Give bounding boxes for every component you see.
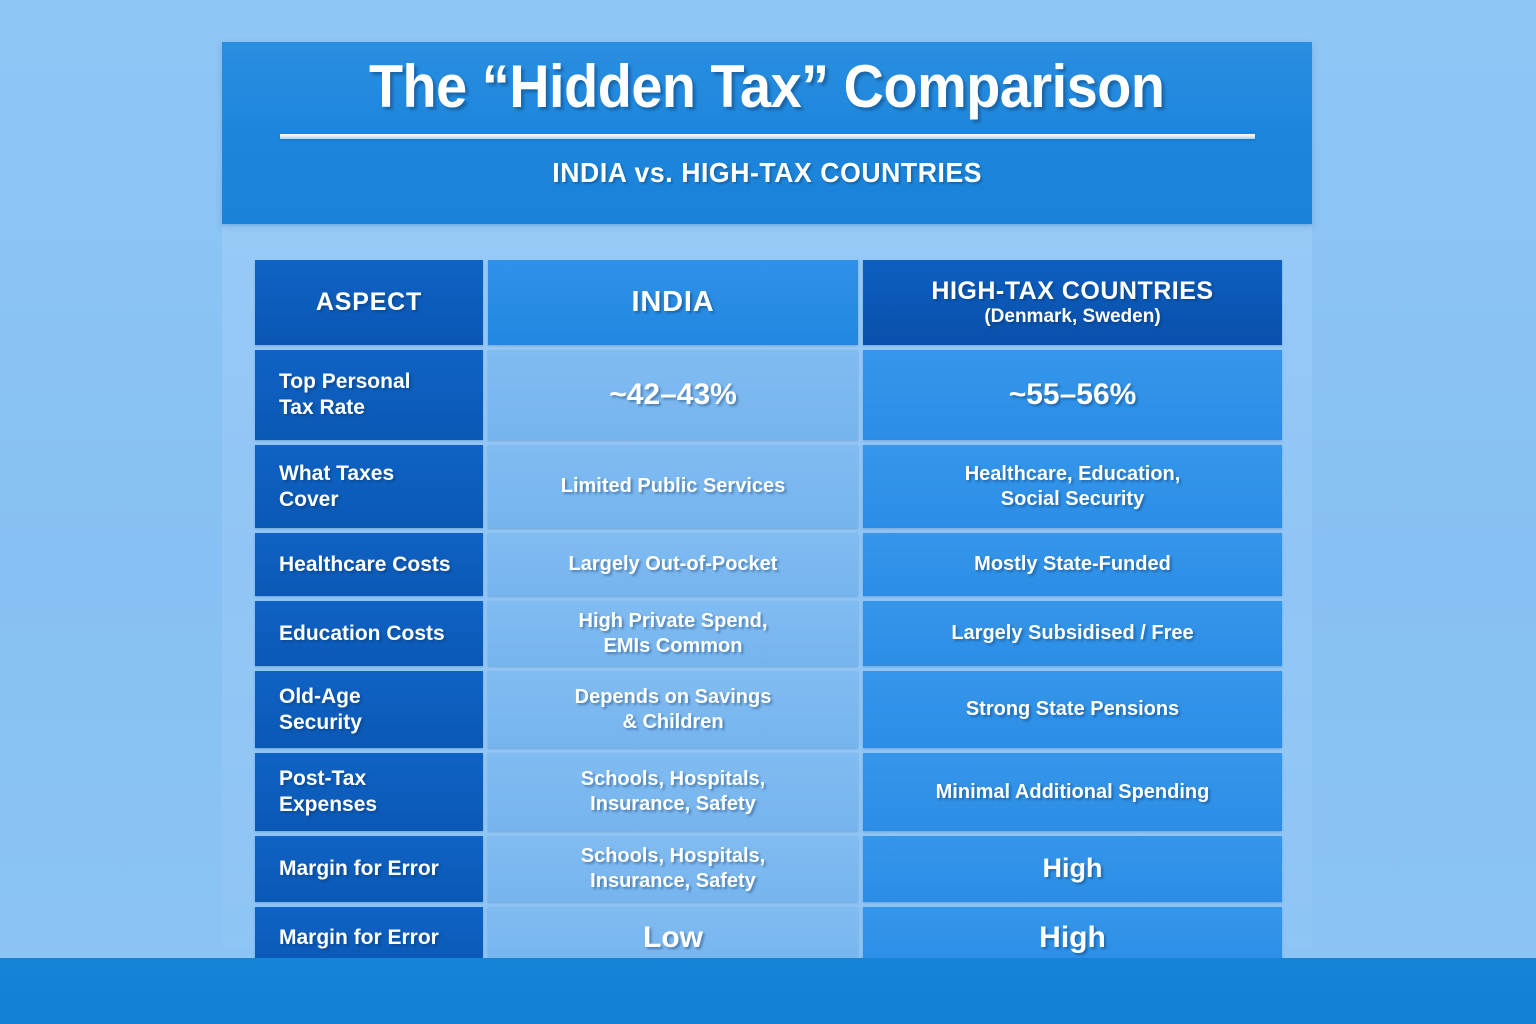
table-row: Old-Age Security Depends on Savings & Ch… bbox=[255, 671, 1282, 748]
row-hightax-value: Largely Subsidised / Free bbox=[863, 601, 1282, 666]
header-banner: The “Hidden Tax” Comparison INDIA vs. HI… bbox=[222, 42, 1312, 224]
row-aspect-label: Healthcare Costs bbox=[255, 533, 483, 596]
table-row: Healthcare Costs Largely Out-of-Pocket M… bbox=[255, 533, 1282, 596]
page-title: The “Hidden Tax” Comparison bbox=[369, 48, 1165, 126]
row-hightax-value: Mostly State-Funded bbox=[863, 533, 1282, 596]
row-hightax-value: Minimal Additional Spending bbox=[863, 753, 1282, 831]
column-header-hightax-sublabel: (Denmark, Sweden) bbox=[984, 306, 1160, 328]
row-india-value: Schools, Hospitals, Insurance, Safety bbox=[488, 753, 858, 831]
row-india-value: Depends on Savings & Children bbox=[488, 671, 858, 748]
table-header-row: ASPECT INDIA HIGH-TAX COUNTRIES (Denmark… bbox=[255, 260, 1282, 345]
column-header-aspect: ASPECT bbox=[255, 260, 483, 345]
row-hightax-value: Healthcare, Education, Social Security bbox=[863, 445, 1282, 528]
title-divider bbox=[280, 134, 1255, 139]
column-header-hightax: HIGH-TAX COUNTRIES (Denmark, Sweden) bbox=[863, 260, 1282, 345]
table-row: Post-Tax Expenses Schools, Hospitals, In… bbox=[255, 753, 1282, 831]
row-aspect-label: Post-Tax Expenses bbox=[255, 753, 483, 831]
row-hightax-value: ~55–56% bbox=[863, 350, 1282, 440]
row-india-value: ~42–43% bbox=[488, 350, 858, 440]
table-row: Top Personal Tax Rate ~42–43% ~55–56% bbox=[255, 350, 1282, 440]
column-header-india: INDIA bbox=[488, 260, 858, 345]
bottom-strip bbox=[0, 958, 1536, 1024]
page-subtitle: INDIA vs. HIGH-TAX COUNTRIES bbox=[552, 157, 982, 189]
row-aspect-label: What Taxes Cover bbox=[255, 445, 483, 528]
table-row: Education Costs High Private Spend, EMIs… bbox=[255, 601, 1282, 666]
row-india-value: Largely Out-of-Pocket bbox=[488, 533, 858, 596]
row-india-value: Schools, Hospitals, Insurance, Safety bbox=[488, 836, 858, 902]
row-aspect-label: Margin for Error bbox=[255, 836, 483, 902]
row-india-value: Limited Public Services bbox=[488, 445, 858, 528]
row-hightax-value: High bbox=[863, 836, 1282, 902]
column-header-hightax-label: HIGH-TAX COUNTRIES bbox=[931, 277, 1213, 307]
comparison-table: ASPECT INDIA HIGH-TAX COUNTRIES (Denmark… bbox=[255, 260, 1282, 969]
table-row: What Taxes Cover Limited Public Services… bbox=[255, 445, 1282, 528]
row-india-value: High Private Spend, EMIs Common bbox=[488, 601, 858, 666]
table-row: Margin for Error Schools, Hospitals, Ins… bbox=[255, 836, 1282, 902]
row-hightax-value: Strong State Pensions bbox=[863, 671, 1282, 748]
row-aspect-label: Education Costs bbox=[255, 601, 483, 666]
row-aspect-label: Top Personal Tax Rate bbox=[255, 350, 483, 440]
row-aspect-label: Old-Age Security bbox=[255, 671, 483, 748]
